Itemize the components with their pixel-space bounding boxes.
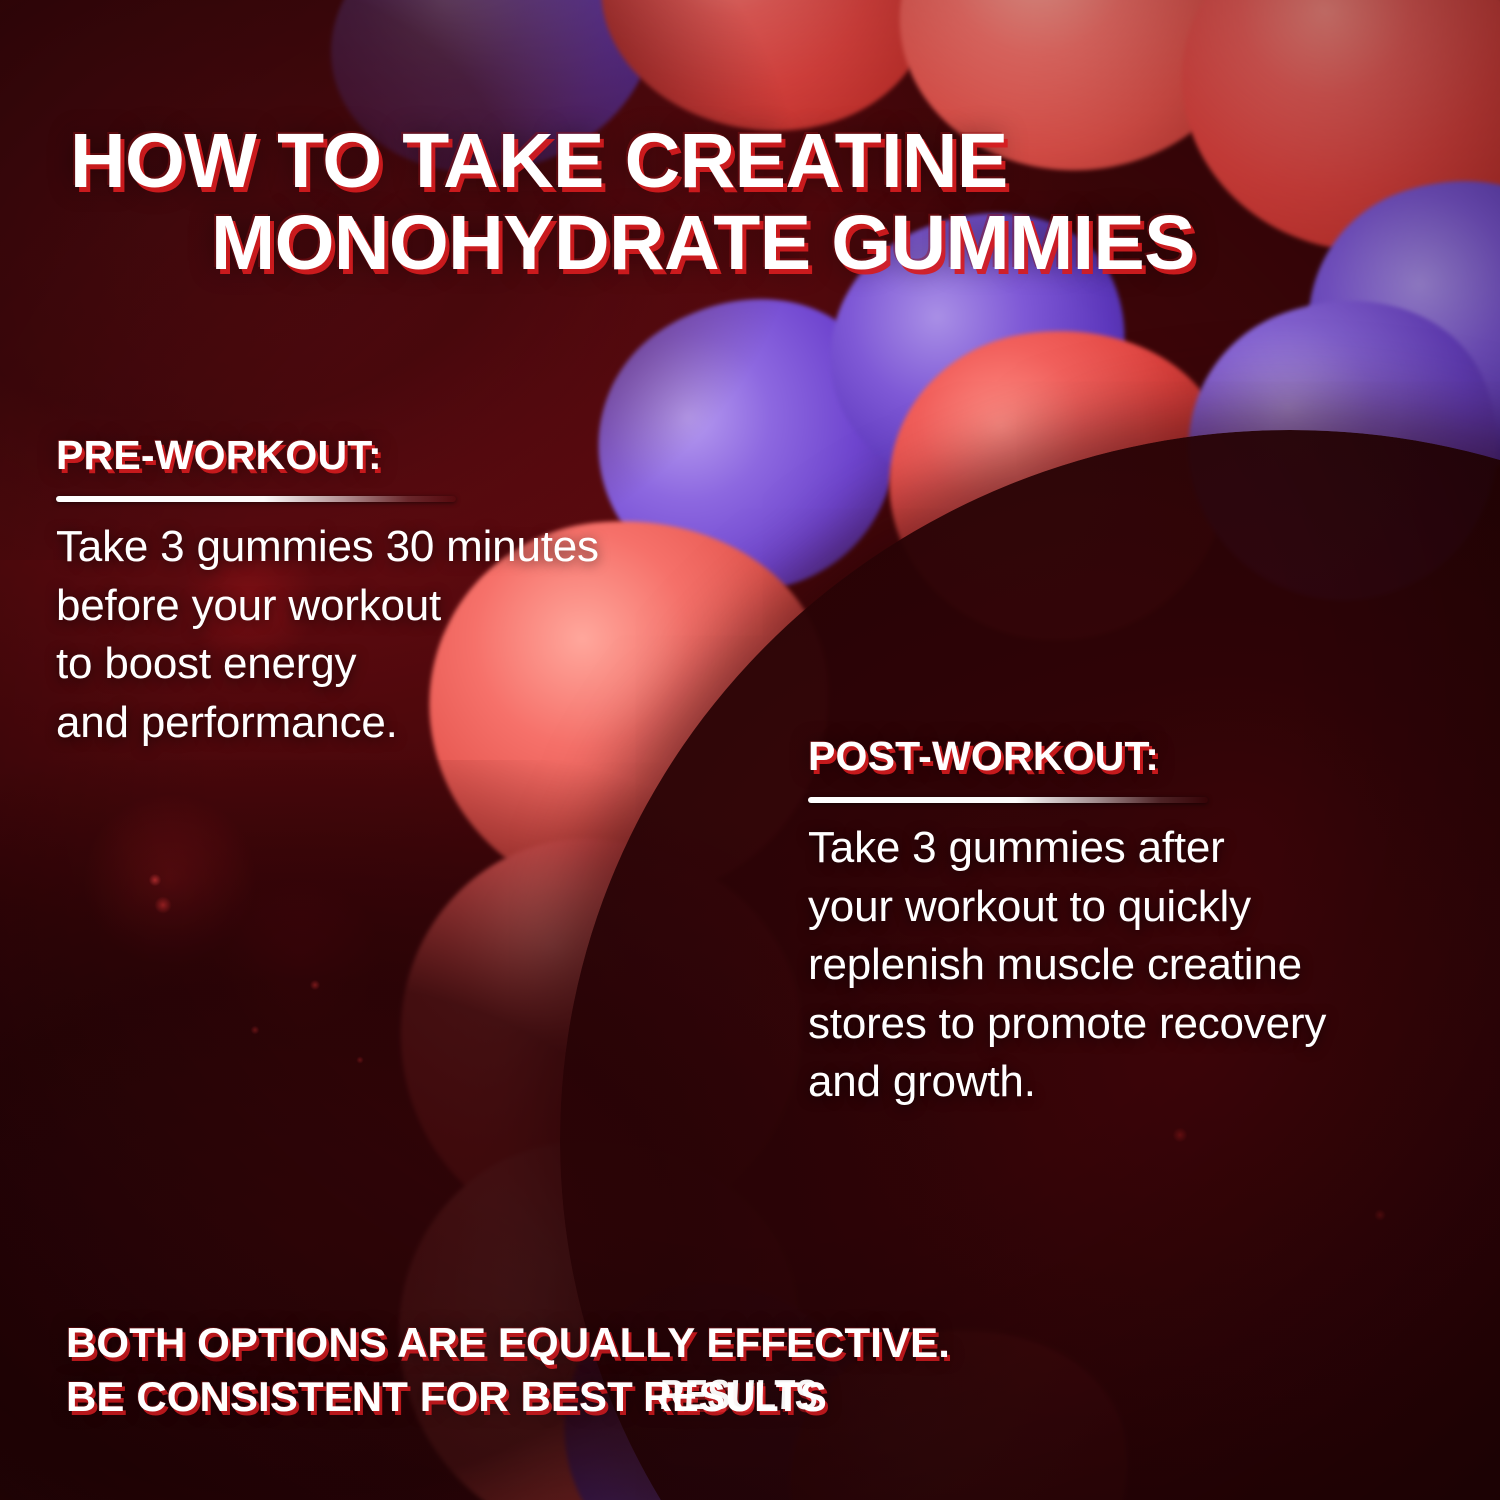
post-workout-line-5: and growth. <box>808 1053 1468 1112</box>
footer-line-2-prefix: BE CONSISTENT FOR BEST <box>66 1373 645 1420</box>
pre-workout-divider <box>56 496 456 502</box>
post-workout-line-4: stores to promote recovery <box>808 995 1468 1054</box>
pre-workout-line-4: and performance. <box>56 694 776 753</box>
poster-content: HOW TO TAKE CREATINE MONOHYDRATE GUMMIES… <box>0 0 1500 1500</box>
post-workout-line-3: replenish muscle creatine <box>808 936 1468 995</box>
promo-poster: HOW TO TAKE CREATINE MONOHYDRATE GUMMIES… <box>0 0 1500 1500</box>
post-workout-line-2: your workout to quickly <box>808 878 1468 937</box>
footer-glitched-word-ghost: RESULTS <box>658 1368 819 1422</box>
footer-glitched-word: RESULTSRESULTS <box>645 1370 825 1424</box>
pre-workout-body: Take 3 gummies 30 minutes before your wo… <box>56 518 776 752</box>
headline-line-2: MONOHYDRATE GUMMIES <box>70 202 1350 284</box>
post-workout-heading: POST-WORKOUT: <box>808 733 1468 780</box>
pre-workout-heading: PRE-WORKOUT: <box>56 432 776 479</box>
pre-workout-line-1: Take 3 gummies 30 minutes <box>56 518 776 577</box>
section-pre-workout: PRE-WORKOUT: Take 3 gummies 30 minutes b… <box>56 432 776 752</box>
pre-workout-line-3: to boost energy <box>56 635 776 694</box>
pre-workout-line-2: before your workout <box>56 577 776 636</box>
headline-line-1: HOW TO TAKE CREATINE <box>70 118 1008 204</box>
page-title: HOW TO TAKE CREATINE MONOHYDRATE GUMMIES <box>70 120 1350 285</box>
footer-callout: BOTH OPTIONS ARE EQUALLY EFFECTIVE. BE C… <box>66 1316 1386 1424</box>
post-workout-body: Take 3 gummies after your workout to qui… <box>808 819 1468 1112</box>
footer-line-1: BOTH OPTIONS ARE EQUALLY EFFECTIVE. <box>66 1316 1386 1370</box>
section-post-workout: POST-WORKOUT: Take 3 gummies after your … <box>808 733 1468 1112</box>
post-workout-divider <box>808 797 1208 803</box>
footer-line-2: BE CONSISTENT FOR BEST RESULTSRESULTS <box>66 1370 1386 1424</box>
post-workout-line-1: Take 3 gummies after <box>808 819 1468 878</box>
